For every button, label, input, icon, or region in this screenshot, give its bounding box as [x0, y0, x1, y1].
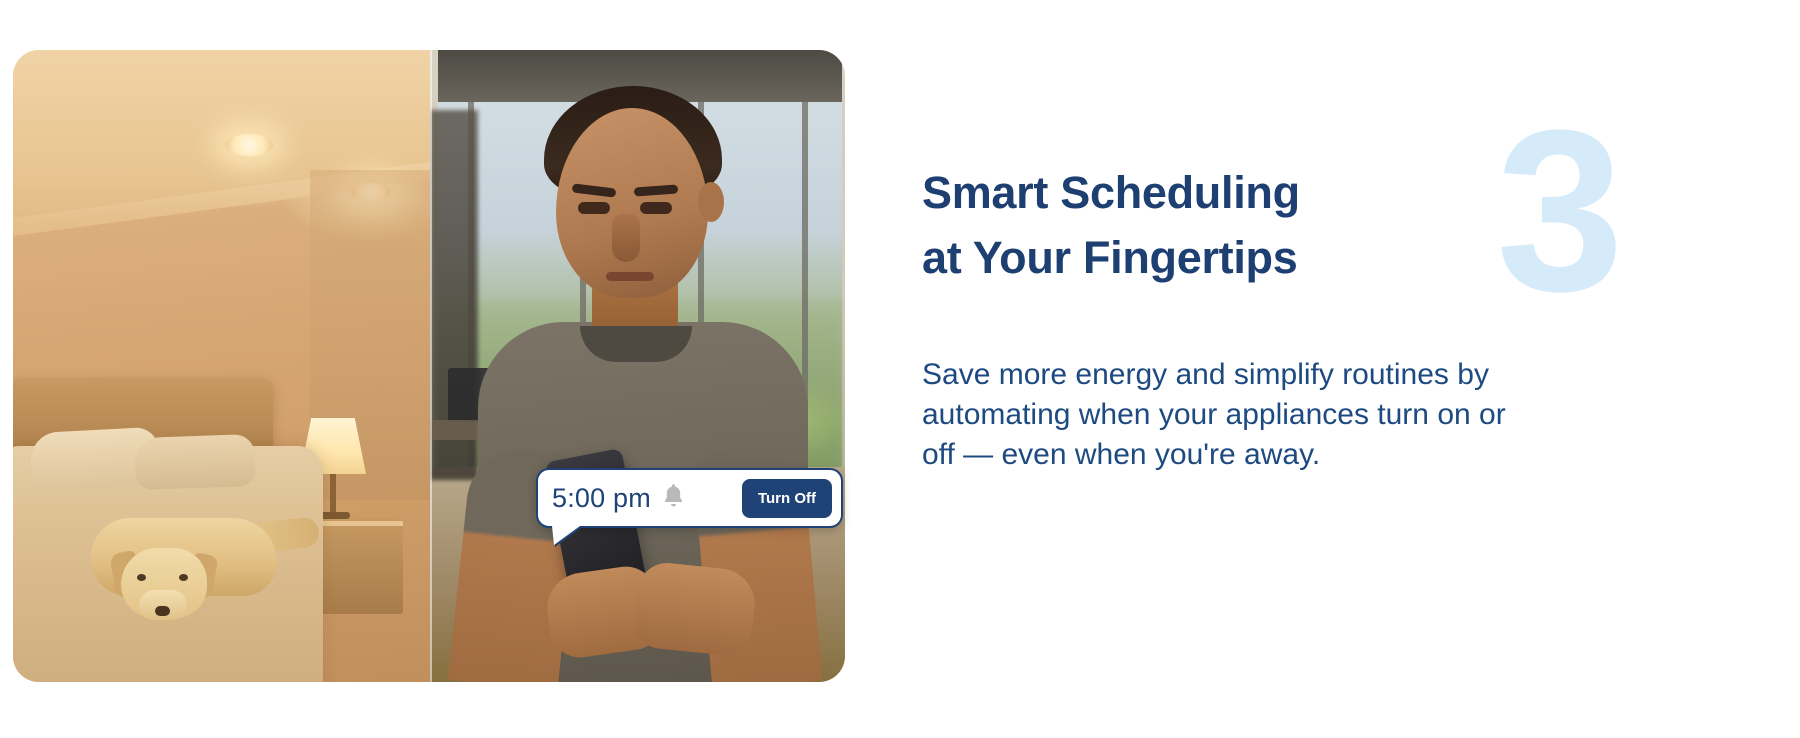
man-with-phone-photo — [430, 50, 845, 682]
feature-slide: 5:00 pm Turn Off Smart Scheduling at You… — [0, 0, 1800, 738]
dog-eye — [179, 574, 188, 581]
headline-line-2: at Your Fingertips — [922, 232, 1297, 283]
photo-divider — [430, 50, 432, 682]
headline-line-1: Smart Scheduling — [922, 167, 1300, 218]
ear — [698, 182, 724, 222]
nose — [612, 214, 640, 262]
bedroom-scene — [13, 50, 430, 682]
schedule-time: 5:00 pm — [552, 483, 651, 514]
dog-nose — [155, 606, 170, 616]
ceiling-downlight-icon — [225, 134, 273, 156]
eye — [578, 202, 610, 214]
pillow — [134, 434, 256, 490]
media-panel — [13, 50, 845, 682]
body-paragraph: Save more energy and simplify routines b… — [922, 291, 1522, 476]
bell-icon — [661, 482, 686, 514]
office-scene — [430, 50, 845, 682]
dog-eye — [137, 574, 146, 581]
mouth — [606, 272, 654, 281]
table-lamp-pole — [330, 474, 336, 516]
hand — [632, 560, 758, 658]
schedule-notification-card[interactable]: 5:00 pm Turn Off — [536, 468, 843, 528]
page-title: Smart Scheduling at Your Fingertips — [922, 160, 1392, 291]
bedroom-photo — [13, 50, 430, 682]
eye — [640, 202, 672, 214]
turn-off-button[interactable]: Turn Off — [742, 479, 832, 518]
step-number: 3 — [1496, 96, 1618, 326]
